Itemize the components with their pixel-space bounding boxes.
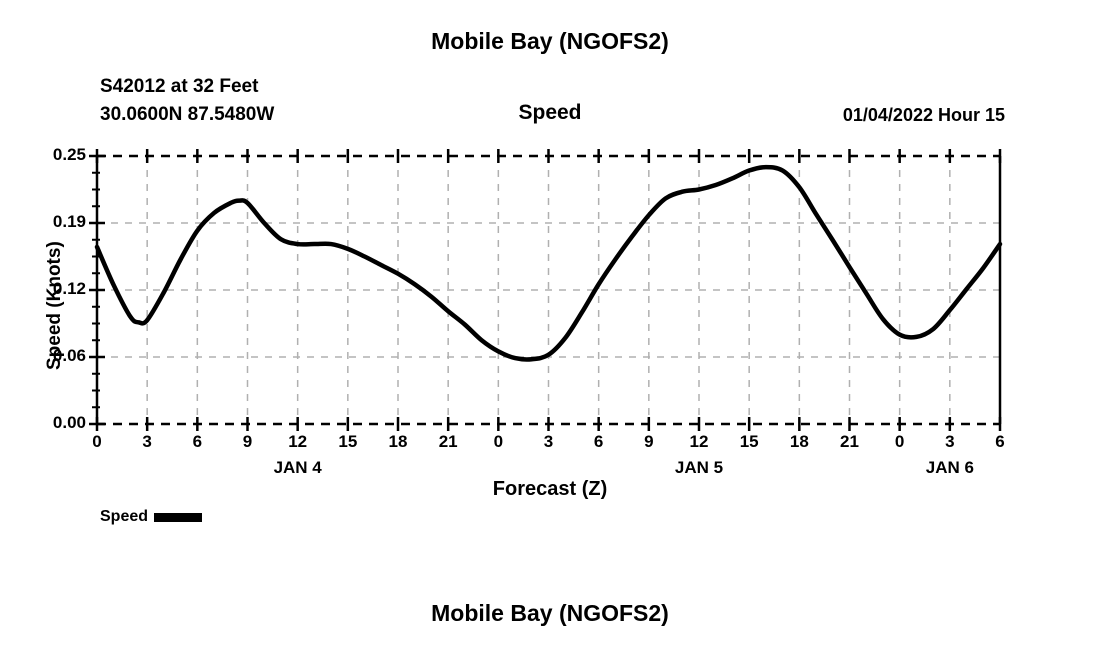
x-tick-label: 0 [880,432,920,452]
legend-label-speed: Speed [100,508,148,526]
y-tick-label: 0.19 [28,212,86,232]
x-tick-label: 0 [77,432,117,452]
chart-page: Mobile Bay (NGOFS2) S42012 at 32 Feet 30… [0,0,1100,650]
x-tick-label: 21 [428,432,468,452]
y-tick-label: 0.25 [28,145,86,165]
x-tick-label: 3 [930,432,970,452]
x-tick-label: 6 [980,432,1020,452]
x-tick-label: 15 [328,432,368,452]
x-tick-label: 6 [177,432,217,452]
plot-area [0,0,1100,650]
x-tick-label: 3 [127,432,167,452]
x-tick-label: 12 [278,432,318,452]
page-title-bottom: Mobile Bay (NGOFS2) [0,600,1100,627]
x-tick-label: 18 [378,432,418,452]
x-tick-label: 18 [779,432,819,452]
x-tick-label: 15 [729,432,769,452]
legend: Speed [100,508,202,526]
x-tick-label: 21 [830,432,870,452]
day-label: JAN 4 [238,458,358,478]
x-tick-label: 3 [529,432,569,452]
y-tick-label: 0.12 [28,279,86,299]
x-tick-label: 0 [478,432,518,452]
day-label: JAN 5 [639,458,759,478]
x-tick-label: 12 [679,432,719,452]
x-tick-label: 6 [579,432,619,452]
y-tick-label: 0.00 [28,413,86,433]
day-label: JAN 6 [890,458,1010,478]
x-tick-label: 9 [228,432,268,452]
x-tick-label: 9 [629,432,669,452]
legend-swatch-speed [154,513,202,522]
y-tick-label: 0.06 [28,346,86,366]
